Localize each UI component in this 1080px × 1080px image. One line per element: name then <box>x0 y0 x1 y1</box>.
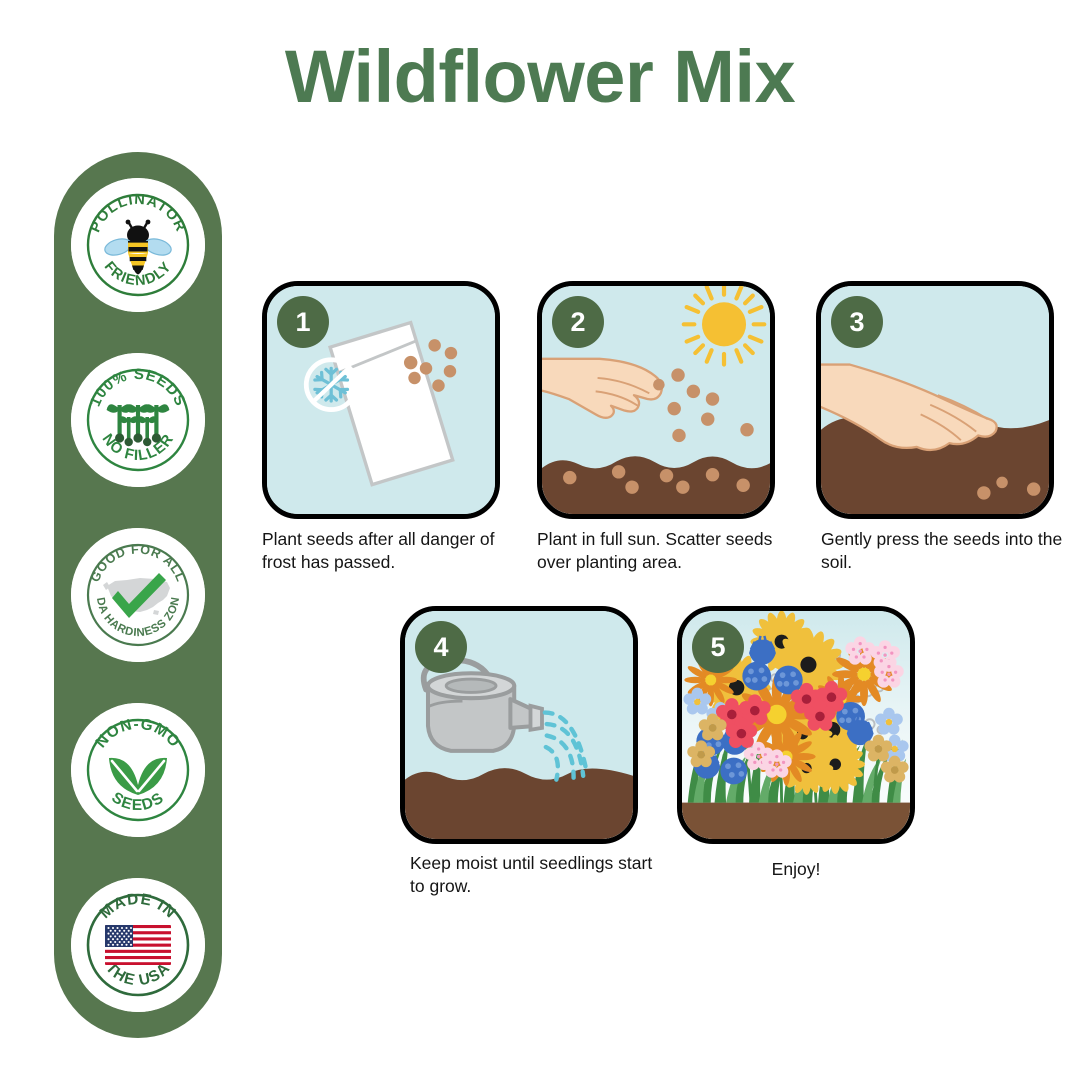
step-number-3: 3 <box>831 296 883 348</box>
badge-rail: POLLINATOR FRIENDLY <box>54 152 222 1038</box>
step-caption-1: Plant seeds after all danger of frost ha… <box>262 528 512 574</box>
step-caption-3: Gently press the seeds into the soil. <box>821 528 1071 574</box>
step-number-5: 5 <box>692 621 744 673</box>
step-card-1: 1 <box>262 281 500 519</box>
step-card-2: 2 <box>537 281 775 519</box>
step-number-2: 2 <box>552 296 604 348</box>
seed-packet-instructions-page: Wildflower Mix POLLINATOR FRIENDLY <box>0 0 1080 1080</box>
badge-non-gmo-seeds: NON-GMO SEEDS <box>71 703 205 837</box>
soil-band <box>542 456 770 514</box>
step-caption-5: Enjoy! <box>677 858 915 881</box>
soil-band <box>405 768 633 839</box>
page-title: Wildflower Mix <box>0 34 1080 119</box>
badge-100-percent-seeds: 100% SEEDS NO FILLER <box>71 353 205 487</box>
step-card-3: 3 <box>816 281 1054 519</box>
step-caption-2: Plant in full sun. Scatter seeds over pl… <box>537 528 787 574</box>
step-card-5: 5 <box>677 606 915 844</box>
step-number-4: 4 <box>415 621 467 673</box>
badge-pollinator-friendly: POLLINATOR FRIENDLY <box>71 178 205 312</box>
step-number-1: 1 <box>277 296 329 348</box>
step-card-4: 4 <box>400 606 638 844</box>
step-caption-4: Keep moist until seedlings start to grow… <box>410 852 660 898</box>
usa-flag-icon <box>105 925 171 965</box>
badge-usda-hardiness-zones: GOOD FOR ALL USDA HARDINESS ZONES <box>71 528 205 662</box>
badge-made-in-usa: MADE IN THE USA <box>71 878 205 1012</box>
